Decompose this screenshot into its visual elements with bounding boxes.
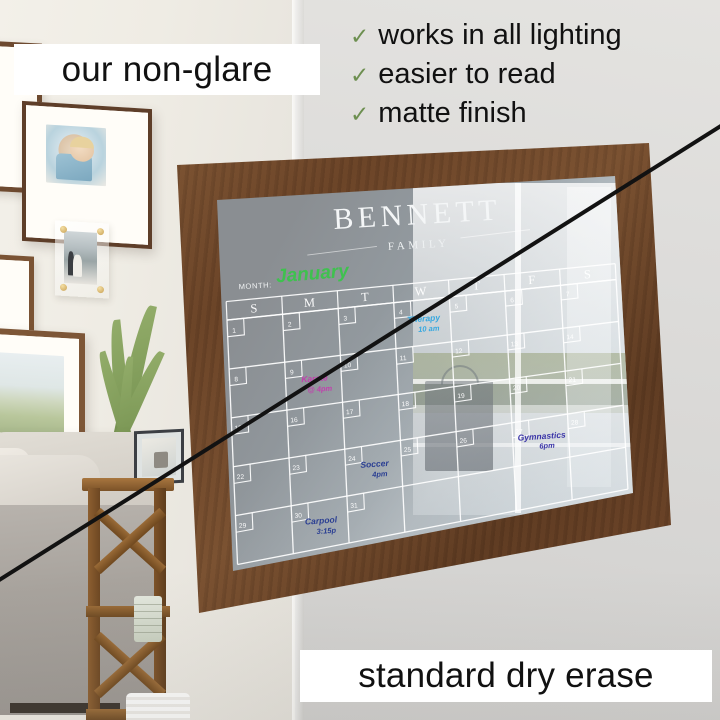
- svg-text:6pm: 6pm: [539, 441, 555, 451]
- product-comparison-image: BENNETTFAMILYMONTH:JanuarySMTWTFS1234567…: [0, 0, 720, 720]
- svg-text:Soccer: Soccer: [360, 458, 390, 470]
- svg-text:MONTH:: MONTH:: [238, 280, 272, 291]
- svg-text:S: S: [250, 301, 259, 315]
- svg-text:4: 4: [399, 309, 403, 316]
- svg-text:22: 22: [237, 474, 245, 481]
- top-label-non-glare: our non-glare: [14, 44, 320, 95]
- svg-text:20: 20: [513, 385, 521, 392]
- svg-text:12: 12: [455, 348, 463, 355]
- svg-text:1: 1: [232, 328, 236, 335]
- svg-text:26: 26: [459, 438, 467, 445]
- svg-text:13: 13: [511, 341, 519, 348]
- svg-text:2: 2: [288, 321, 292, 328]
- svg-text:4pm: 4pm: [371, 469, 388, 479]
- dry-erase-calendar-board: BENNETTFAMILYMONTH:JanuarySMTWTFS1234567…: [163, 143, 671, 613]
- svg-text:30: 30: [295, 512, 303, 519]
- svg-text:19: 19: [457, 393, 465, 400]
- check-icon: ✓: [350, 103, 369, 126]
- svg-text:M: M: [303, 295, 316, 310]
- svg-text:8: 8: [234, 376, 238, 383]
- check-icon: ✓: [350, 64, 369, 87]
- bottom-label-standard-dry-erase: standard dry erase: [300, 650, 712, 702]
- svg-text:W: W: [414, 284, 428, 299]
- acrylic-standoff-frame: [55, 220, 109, 298]
- svg-text:7: 7: [566, 291, 570, 298]
- svg-text:24: 24: [348, 456, 356, 463]
- svg-text:15: 15: [235, 425, 243, 432]
- svg-text:F: F: [528, 273, 537, 287]
- svg-text:23: 23: [292, 465, 300, 472]
- calendar-artwork: BENNETTFAMILYMONTH:JanuarySMTWTFS1234567…: [163, 143, 671, 613]
- top-label-text: our non-glare: [62, 50, 273, 90]
- svg-text:Karate: Karate: [301, 372, 328, 384]
- svg-text:16: 16: [290, 417, 298, 424]
- svg-text:29: 29: [239, 522, 247, 529]
- svg-text:10 am: 10 am: [418, 323, 440, 333]
- svg-text:11: 11: [400, 355, 408, 362]
- bullet-item: ✓ easier to read: [350, 56, 720, 93]
- bottom-label-text: standard dry erase: [358, 656, 653, 696]
- svg-text:10: 10: [344, 362, 352, 369]
- svg-text:3: 3: [343, 315, 347, 322]
- feature-bullet-list: ✓ works in all lighting ✓ easier to read…: [350, 17, 720, 134]
- svg-text:14: 14: [566, 334, 574, 341]
- svg-text:January: January: [275, 261, 351, 288]
- svg-text:FAMILY: FAMILY: [388, 237, 450, 253]
- svg-text:Carpool: Carpool: [305, 514, 338, 526]
- bullet-item: ✓ works in all lighting: [350, 17, 720, 54]
- svg-text:@ 4pm: @ 4pm: [307, 384, 333, 395]
- svg-text:21: 21: [569, 377, 577, 384]
- svg-text:S: S: [583, 267, 592, 281]
- bullet-label: matte finish: [378, 95, 526, 132]
- svg-text:28: 28: [571, 419, 579, 426]
- check-icon: ✓: [350, 25, 369, 48]
- svg-text:31: 31: [350, 502, 358, 509]
- bullet-label: easier to read: [378, 56, 555, 93]
- svg-text:5: 5: [454, 303, 458, 310]
- svg-text:T: T: [361, 290, 370, 304]
- bullet-item: ✓ matte finish: [350, 95, 720, 132]
- svg-text:9: 9: [290, 369, 294, 376]
- bullet-label: works in all lighting: [378, 17, 621, 54]
- svg-text:BENNETT: BENNETT: [332, 193, 502, 236]
- svg-text:6: 6: [510, 297, 514, 304]
- svg-text:25: 25: [404, 447, 412, 454]
- svg-text:T: T: [472, 278, 481, 292]
- svg-text:18: 18: [402, 401, 410, 408]
- svg-text:17: 17: [346, 409, 354, 416]
- svg-text:3:15p: 3:15p: [316, 526, 337, 536]
